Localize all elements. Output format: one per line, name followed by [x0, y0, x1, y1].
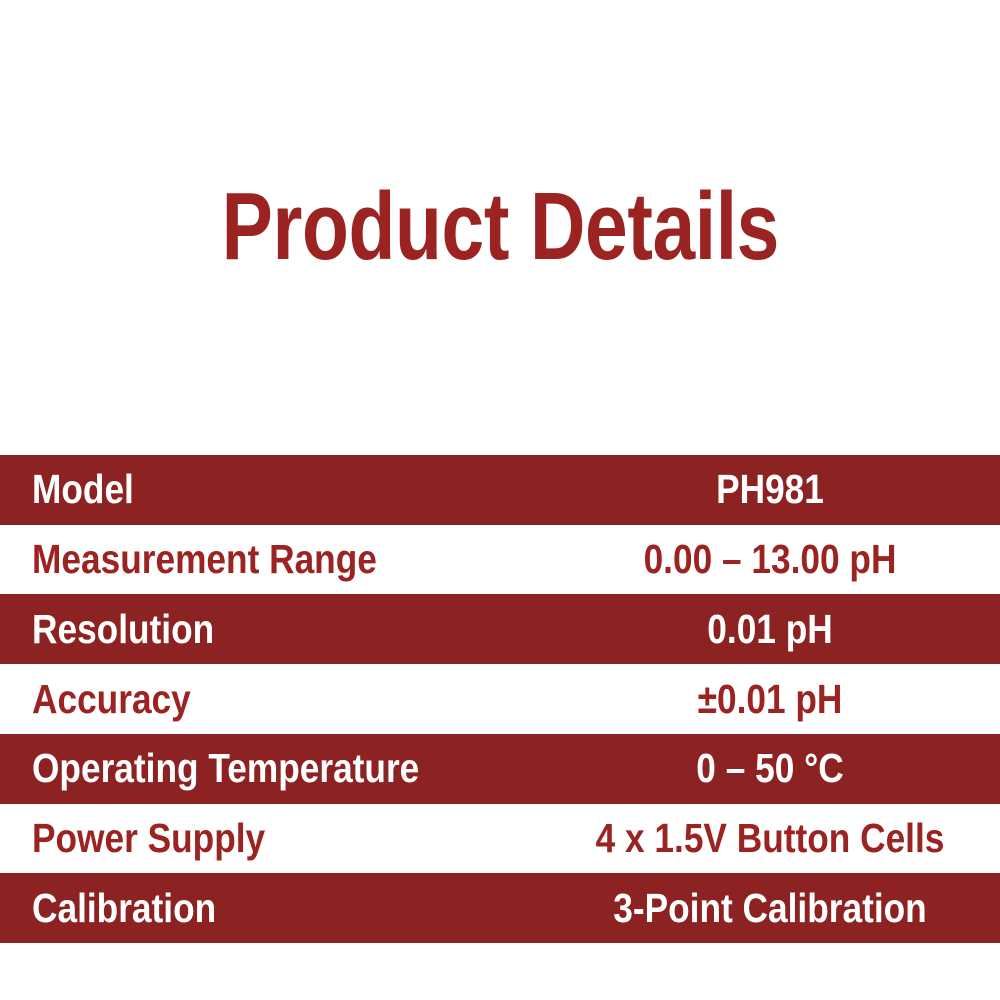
spec-value: 0 – 50 °C [696, 748, 843, 789]
table-row: Model PH981 [0, 455, 1000, 525]
spec-label: Measurement Range [32, 539, 377, 580]
specifications-table: Model PH981 Measurement Range 0.00 – 13.… [0, 455, 1000, 943]
spec-value: 0.01 pH [707, 609, 832, 650]
table-row: Calibration 3-Point Calibration [0, 873, 1000, 943]
spec-label: Calibration [32, 888, 216, 929]
spec-value: PH981 [716, 469, 824, 510]
spec-value: 4 x 1.5V Button Cells [596, 818, 945, 859]
table-row: Measurement Range 0.00 – 13.00 pH [0, 525, 1000, 595]
spec-label: Accuracy [32, 679, 191, 720]
product-details-page: Product Details Model PH981 Measurement … [0, 0, 1000, 1000]
page-title: Product Details [221, 179, 778, 275]
table-row: Power Supply 4 x 1.5V Button Cells [0, 804, 1000, 874]
page-title-area: Product Details [0, 172, 1000, 282]
spec-label: Operating Temperature [32, 748, 419, 789]
spec-value: ±0.01 pH [698, 679, 843, 720]
spec-value: 3-Point Calibration [613, 888, 926, 929]
table-row: Operating Temperature 0 – 50 °C [0, 734, 1000, 804]
table-row: Accuracy ±0.01 pH [0, 664, 1000, 734]
spec-value: 0.00 – 13.00 pH [644, 539, 897, 580]
table-row: Resolution 0.01 pH [0, 594, 1000, 664]
spec-label: Model [32, 469, 134, 510]
spec-label: Power Supply [32, 818, 265, 859]
spec-label: Resolution [32, 609, 214, 650]
